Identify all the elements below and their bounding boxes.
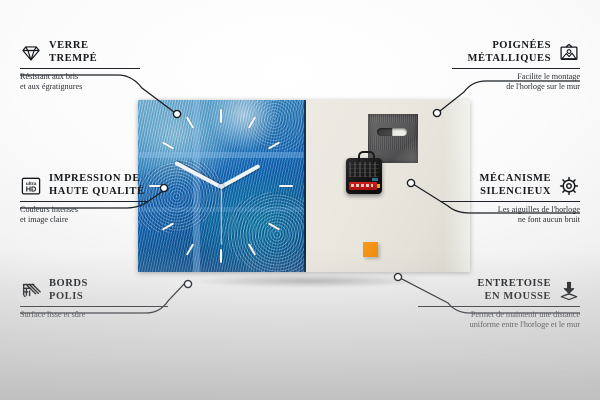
foam-spacer-pad [363, 242, 378, 257]
ultra-hd-bottom-text: HD [26, 184, 37, 193]
feature-callout-verre-trempe: VERRE TREMPÉ Résistant aux bris et aux é… [20, 40, 140, 92]
diamond-icon [20, 42, 42, 64]
feature-subtitle: Facilite le montage de l'horloge sur le … [452, 72, 580, 92]
infographic-canvas: VERRE TREMPÉ Résistant aux bris et aux é… [0, 0, 600, 400]
feature-callout-poignees: POIGNÉES MÉTALLIQUES Facilite le montage… [452, 40, 580, 92]
aa-battery [349, 182, 377, 190]
feature-header: MÉCANISME SILENCIEUX [440, 173, 580, 198]
gear-icon [558, 175, 580, 197]
mechanism-terminal [372, 178, 378, 181]
clock-center-hub [219, 184, 224, 189]
clock-mechanism-box [346, 158, 382, 194]
clock-front-face [138, 100, 306, 272]
metal-hanger-plate [368, 114, 418, 163]
ultra-hd-badge-icon: ultra HD [20, 175, 42, 197]
feature-divider [418, 306, 580, 307]
clock-tick [279, 185, 293, 187]
feature-subtitle: Permet de maintenir une distance uniform… [418, 310, 580, 330]
feature-title: ENTRETOISE EN MOUSSE [477, 278, 551, 303]
feature-title: MÉCANISME SILENCIEUX [480, 173, 551, 198]
feature-subtitle: Les aiguilles de l'horloge ne font aucun… [440, 205, 580, 225]
clock-hour-hand [220, 164, 260, 189]
mechanism-label-print [349, 162, 379, 177]
clock-tick [162, 141, 174, 149]
hanger-keyhole-slot [377, 128, 407, 136]
feature-callout-mecanisme: MÉCANISME SILENCIEUX Les aiguilles de l'… [440, 173, 580, 225]
polished-edges-icon [20, 280, 42, 302]
feature-divider [440, 201, 580, 202]
product-image [138, 100, 470, 282]
feature-title: IMPRESSION DE HAUTE QUALITÉ [49, 173, 145, 198]
wave-swirl-2 [218, 183, 306, 272]
feature-callout-entretoise: ENTRETOISE EN MOUSSE Permet de maintenir… [418, 278, 580, 330]
feature-divider [452, 68, 580, 69]
feature-title: BORDS POLIS [49, 278, 88, 303]
battery-label [351, 184, 373, 187]
feature-callout-impression: ultra HD IMPRESSION DE HAUTE QUALITÉ Cou… [20, 173, 148, 225]
feature-header: VERRE TREMPÉ [20, 40, 140, 65]
feature-header: POIGNÉES MÉTALLIQUES [452, 40, 580, 65]
feature-subtitle: Surface lisse et sûre [20, 310, 168, 320]
feature-divider [20, 306, 168, 307]
feature-header: ultra HD IMPRESSION DE HAUTE QUALITÉ [20, 173, 148, 198]
feature-divider [20, 201, 148, 202]
mechanism-hanger-hook [358, 151, 375, 162]
picture-frame-hanger-icon [558, 42, 580, 64]
feature-header: BORDS POLIS [20, 278, 168, 303]
feature-header: ENTRETOISE EN MOUSSE [418, 278, 580, 303]
feature-subtitle: Résistant aux bris et aux égratignures [20, 72, 140, 92]
foam-spacer-arrow-icon [558, 280, 580, 302]
clock-tick [149, 185, 163, 187]
clock-second-hand [220, 187, 221, 245]
feature-callout-bords-polis: BORDS POLIS Surface lisse et sûre [20, 278, 168, 320]
clock-tick [220, 109, 222, 123]
clock-tick [220, 249, 222, 263]
wave-swirl-1 [138, 149, 234, 245]
feature-subtitle: Couleurs intenses et image claire [20, 205, 148, 225]
feature-divider [20, 68, 140, 69]
feature-title: VERRE TREMPÉ [49, 40, 97, 65]
feature-title: POIGNÉES MÉTALLIQUES [468, 40, 551, 65]
